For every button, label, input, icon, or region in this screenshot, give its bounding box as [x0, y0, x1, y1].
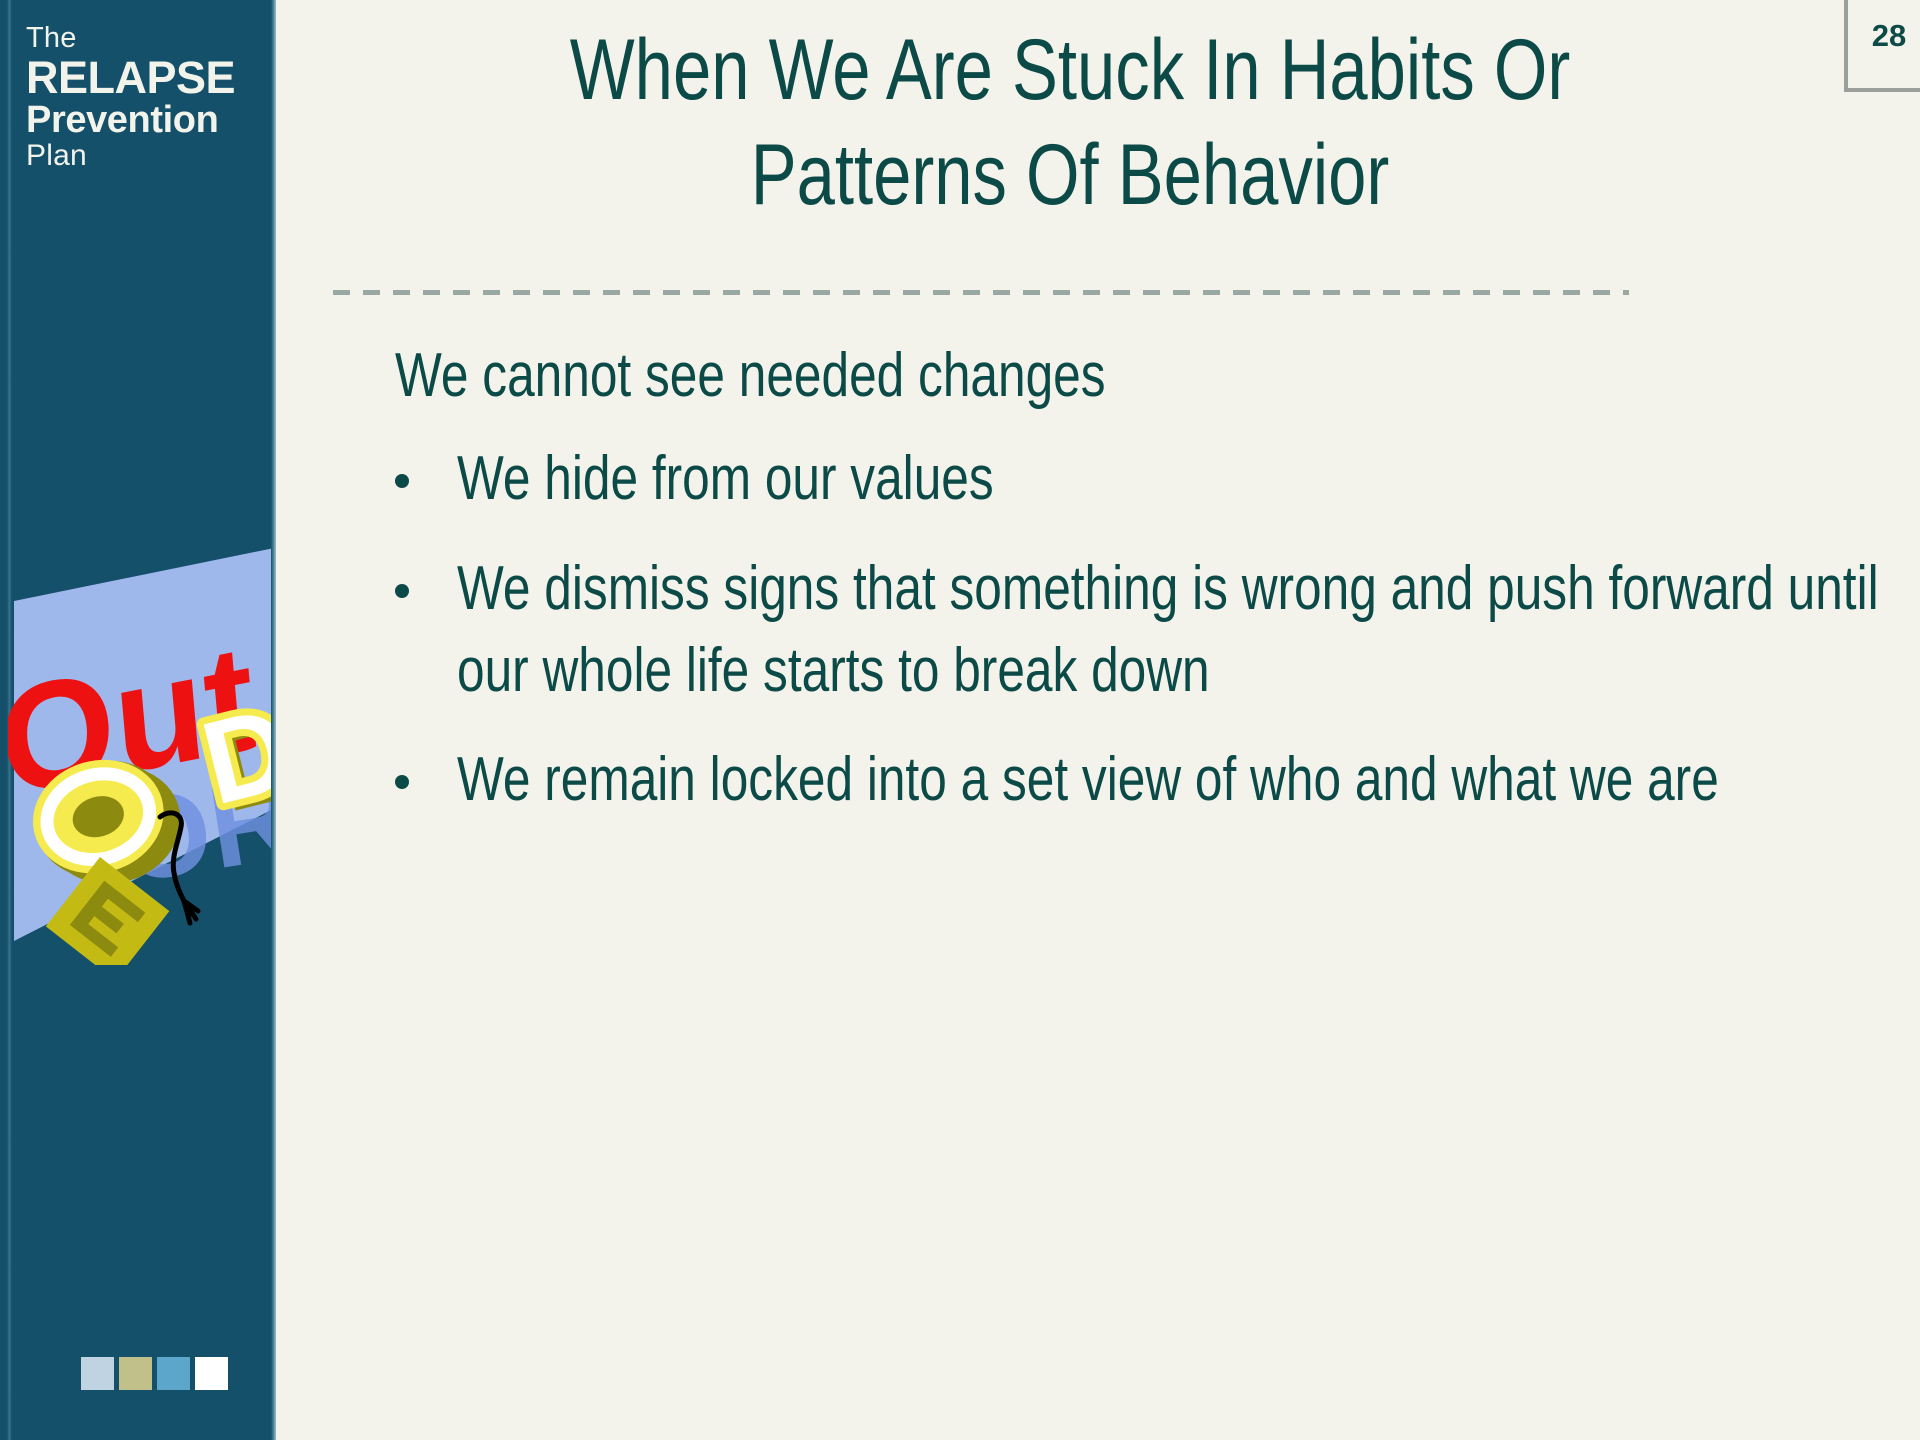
bullet-text: We dismiss signs that something is wrong… [457, 548, 1881, 712]
page-title: When We Are Stuck In Habits Or Patterns … [454, 18, 1686, 228]
slide-body: We cannot see needed changes We hide fro… [395, 340, 1895, 849]
brand-logo: The RELAPSE Prevention Plan [26, 24, 256, 171]
bullet-text: We hide from our values [457, 438, 1881, 520]
sidebar-right-edge [271, 0, 276, 1440]
slide: The RELAPSE Prevention Plan OR [0, 0, 1920, 1440]
bullet-dot-icon [395, 775, 409, 789]
swatch-white [195, 1357, 228, 1390]
bullet-list: We hide from our values We dismiss signs… [395, 438, 1895, 821]
bullet-dot-icon [395, 474, 409, 488]
bullet-dot-icon [395, 584, 409, 598]
list-item: We remain locked into a set view of who … [395, 739, 1895, 821]
out-of-order-graphic: OR Out Of DER DER DER [8, 525, 276, 965]
logo-line-prevention: Prevention [26, 101, 256, 139]
logo-line-relapse: RELAPSE [26, 55, 256, 100]
logo-line-the: The [26, 24, 256, 53]
bullet-text: We remain locked into a set view of who … [457, 739, 1881, 821]
logo-line-plan: Plan [26, 141, 256, 171]
dashed-divider [333, 290, 1629, 295]
list-item: We dismiss signs that something is wrong… [395, 548, 1895, 712]
swatch-light-blue [81, 1357, 114, 1390]
page-number: 28 [1872, 18, 1906, 54]
page-number-box: 28 [1844, 0, 1920, 92]
lead-statement: We cannot see needed changes [395, 340, 1895, 412]
list-item: We hide from our values [395, 438, 1895, 520]
swatch-khaki [119, 1357, 152, 1390]
swatch-blue [157, 1357, 190, 1390]
swatch-row [81, 1357, 228, 1390]
sidebar: The RELAPSE Prevention Plan OR [0, 0, 276, 1440]
